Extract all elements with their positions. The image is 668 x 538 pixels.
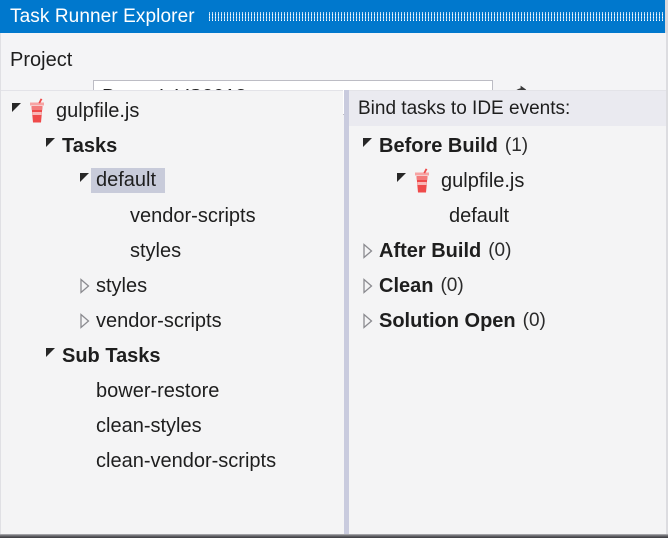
tree-row-count: (0) — [440, 275, 463, 297]
tree-row[interactable]: default — [349, 198, 668, 233]
window-left-edge — [0, 33, 1, 538]
tree-row[interactable]: vendor-scripts — [0, 303, 343, 338]
tree-row-label: Tasks — [62, 136, 117, 156]
bindings-tree[interactable]: Before Build(1)gulpfile.jsdefaultAfter B… — [349, 126, 668, 338]
tree-expand-arrow-expanded[interactable] — [357, 135, 379, 157]
tree-row-label: gulpfile.js — [441, 171, 524, 191]
bindings-header-label: Bind tasks to IDE events: — [358, 98, 570, 120]
task-runner-explorer-window: Task Runner Explorer Project BowerInVS20… — [0, 0, 668, 538]
tree-row[interactable]: Before Build(1) — [349, 128, 668, 163]
tree-expand-arrow-collapsed[interactable] — [357, 275, 379, 297]
window-title: Task Runner Explorer — [0, 7, 195, 26]
tree-row-label: After Build — [379, 241, 481, 261]
tree-expand-arrow-collapsed[interactable] — [74, 275, 96, 297]
tree-leaf-spacer — [108, 240, 130, 262]
tree-row[interactable]: Sub Tasks — [0, 338, 343, 373]
tree-row[interactable]: gulpfile.js — [0, 93, 343, 128]
tree-row[interactable]: clean-styles — [0, 408, 343, 443]
tree-row[interactable]: Tasks — [0, 128, 343, 163]
tree-expand-arrow-expanded[interactable] — [40, 135, 62, 157]
tree-row-label: Before Build — [379, 136, 498, 156]
toolbar: Project BowerInVS2013 — [0, 33, 668, 90]
gulp-icon — [28, 98, 50, 124]
tree-leaf-spacer — [74, 380, 96, 402]
tree-row-label: default — [449, 206, 509, 226]
tree-row-count: (0) — [488, 240, 511, 262]
tree-row[interactable]: default — [0, 163, 343, 198]
tree-leaf-spacer — [427, 205, 449, 227]
tree-leaf-spacer — [74, 450, 96, 472]
tree-row-label: vendor-scripts — [96, 311, 222, 331]
window-bottom-shadow — [0, 534, 668, 538]
tree-row-count: (1) — [505, 135, 528, 157]
project-label: Project — [10, 49, 72, 72]
tree-row-count: (0) — [523, 310, 546, 332]
bindings-pane: Bind tasks to IDE events: Before Build(1… — [349, 90, 668, 534]
tree-row[interactable]: clean-vendor-scripts — [0, 443, 343, 478]
tree-row-label: bower-restore — [96, 381, 219, 401]
tree-row-label: styles — [130, 241, 181, 261]
tasks-tree-pane: gulpfile.jsTasksdefaultvendor-scriptssty… — [0, 90, 343, 534]
tree-row[interactable]: Clean(0) — [349, 268, 668, 303]
tree-row[interactable]: bower-restore — [0, 373, 343, 408]
tree-row[interactable]: vendor-scripts — [0, 198, 343, 233]
tree-row[interactable]: styles — [0, 268, 343, 303]
tree-leaf-spacer — [108, 205, 130, 227]
tree-expand-arrow-collapsed[interactable] — [357, 240, 379, 262]
tree-expand-arrow-expanded[interactable] — [40, 345, 62, 367]
tree-row-label: Clean — [379, 276, 433, 296]
tree-expand-arrow-expanded[interactable] — [391, 170, 413, 192]
tree-row-label: vendor-scripts — [130, 206, 256, 226]
tree-row-label: Sub Tasks — [62, 346, 161, 366]
tree-row-label: clean-vendor-scripts — [96, 451, 276, 471]
gulp-icon — [413, 168, 435, 194]
tree-row[interactable]: gulpfile.js — [349, 163, 668, 198]
tree-leaf-spacer — [74, 415, 96, 437]
titlebar-grip-pattern — [209, 12, 664, 21]
tree-row-label: gulpfile.js — [56, 101, 139, 121]
tree-row-label: default — [91, 168, 165, 193]
tree-expand-arrow-collapsed[interactable] — [357, 310, 379, 332]
panes-container: gulpfile.jsTasksdefaultvendor-scriptssty… — [0, 90, 668, 534]
window-titlebar: Task Runner Explorer — [0, 0, 668, 33]
tree-row-label: clean-styles — [96, 416, 202, 436]
tasks-tree[interactable]: gulpfile.jsTasksdefaultvendor-scriptssty… — [0, 91, 343, 478]
tree-row[interactable]: styles — [0, 233, 343, 268]
tree-expand-arrow-expanded[interactable] — [6, 100, 28, 122]
tree-row-label: styles — [96, 276, 147, 296]
tree-row[interactable]: After Build(0) — [349, 233, 668, 268]
bindings-header: Bind tasks to IDE events: — [349, 91, 668, 126]
tree-expand-arrow-collapsed[interactable] — [74, 310, 96, 332]
tree-row-label: Solution Open — [379, 311, 516, 331]
tree-row[interactable]: Solution Open(0) — [349, 303, 668, 338]
